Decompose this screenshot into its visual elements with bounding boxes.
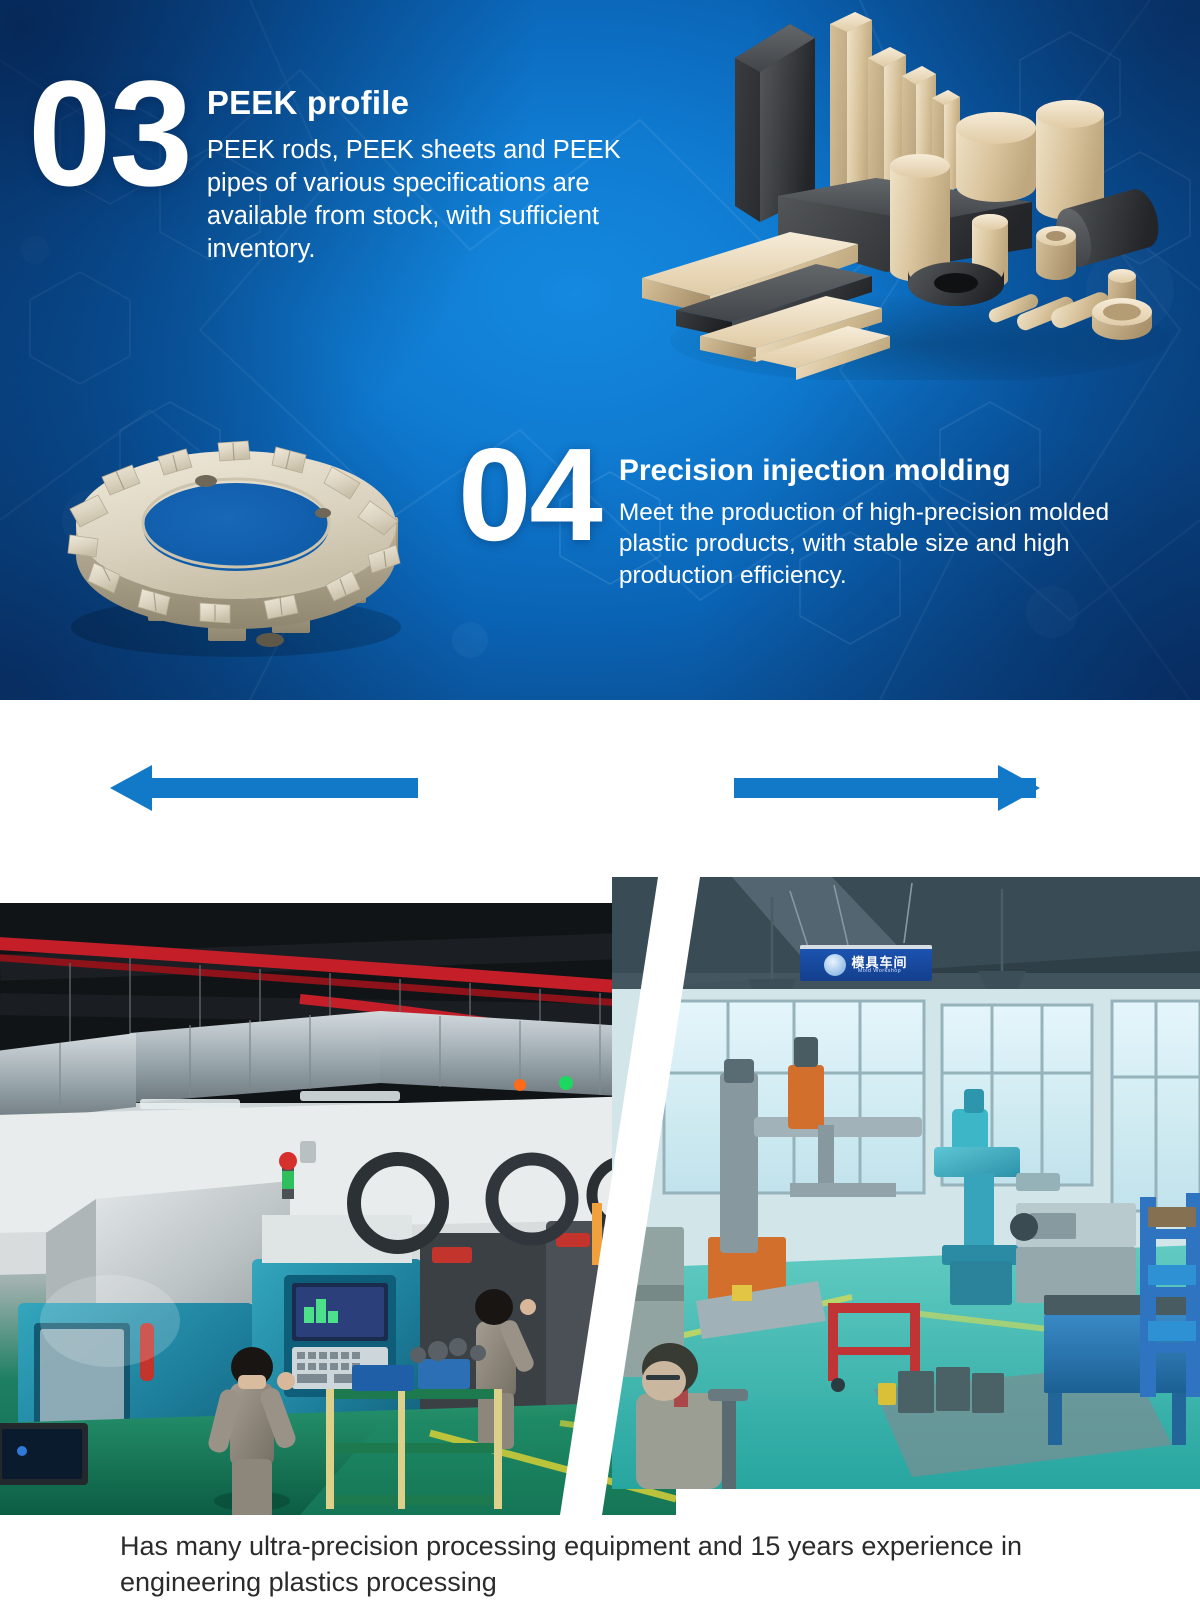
sign-title-en: Mold Workshop: [858, 969, 901, 975]
gallery-caption-text: Has many ultra-precision processing equi…: [120, 1528, 1080, 1600]
hero-section: 03 PEEK profile PEEK rods, PEEK sheets a…: [0, 0, 1200, 700]
feature-number-04: 04: [458, 440, 601, 591]
gallery-caption: Has many ultra-precision processing equi…: [0, 1515, 1200, 1616]
feature-body-04: Meet the production of high-precision mo…: [619, 497, 1139, 591]
feature-block-04: 04 Precision injection molding Meet the …: [458, 440, 1168, 591]
sign-title-cn: 模具车间: [851, 956, 907, 969]
feature-block-03: 03 PEEK profile PEEK rods, PEEK sheets a…: [28, 70, 668, 267]
mold-workshop-sign-plate: 模具车间 Mold Workshop: [800, 945, 932, 981]
feature-body-03: PEEK rods, PEEK sheets and PEEK pipes of…: [207, 134, 637, 267]
company-logo-icon: [824, 954, 846, 976]
feature-title-03: PEEK profile: [207, 84, 637, 122]
workshop-photo-gallery: 模具车间 Mold Workshop: [0, 877, 1200, 1515]
feature-number-03: 03: [28, 70, 191, 267]
feature-title-04: Precision injection molding: [619, 454, 1139, 488]
double-arrow-divider: svg[data-name="double-arrow-divider"] g{…: [0, 700, 1200, 877]
arrow-left-icon: [110, 765, 418, 811]
mold-workshop-photo: 模具车间 Mold Workshop: [612, 877, 1200, 1489]
cnc-machining-workshop-photo: [0, 903, 676, 1515]
peek-profiles-photo: [640, 10, 1200, 380]
arrow-right-icon: [734, 765, 1040, 811]
our-strengths-banner: svg[data-name="double-arrow-divider"] g{…: [0, 700, 1200, 877]
peek-gear-ring-photo: [40, 405, 430, 670]
